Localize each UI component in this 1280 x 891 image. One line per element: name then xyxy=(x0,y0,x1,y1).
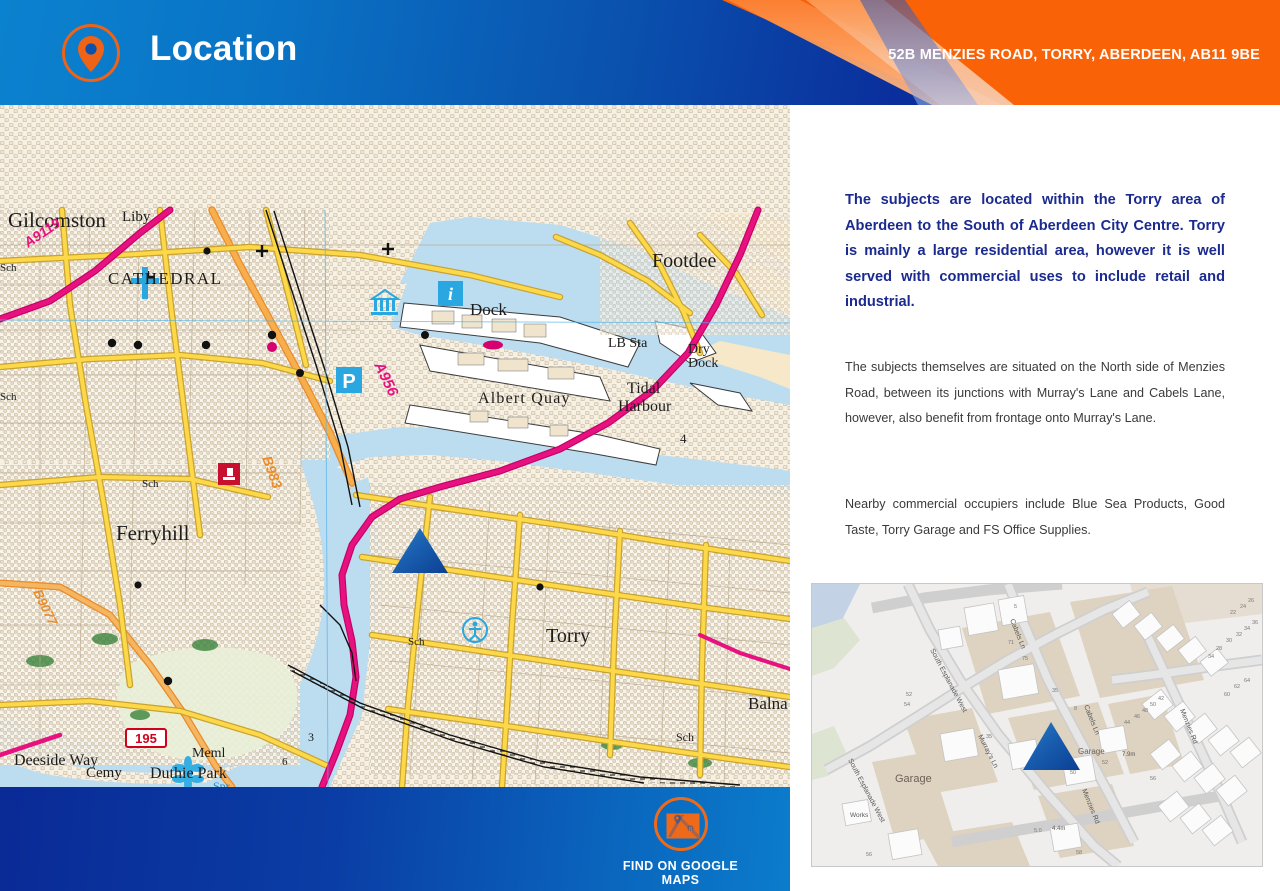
svg-text:Sch: Sch xyxy=(142,478,159,490)
paragraph-lead: The subjects are located within the Torr… xyxy=(845,188,1225,316)
svg-text:54: 54 xyxy=(904,702,910,708)
paragraph-situation: The subjects themselves are situated on … xyxy=(845,355,1225,432)
svg-text:CATHEDRAL: CATHEDRAL xyxy=(108,269,223,288)
google-maps-glyph: 8 xyxy=(666,813,700,839)
svg-text:Cemy: Cemy xyxy=(86,765,122,781)
main-location-map[interactable]: i P xyxy=(0,105,790,787)
pin-glyph xyxy=(76,36,106,72)
svg-text:36: 36 xyxy=(1252,620,1258,626)
svg-text:Liby: Liby xyxy=(122,209,151,225)
cycle-route-shield: 195 xyxy=(126,729,166,747)
svg-text:Dock: Dock xyxy=(688,356,718,371)
property-address: 52B MENZIES ROAD, TORRY, ABERDEEN, AB11 … xyxy=(888,47,1260,63)
svg-text:Sch: Sch xyxy=(0,391,17,403)
svg-text:52: 52 xyxy=(906,692,912,698)
map-label-garage-1: Garage xyxy=(895,773,932,785)
svg-text:42: 42 xyxy=(1158,696,1164,702)
svg-text:34: 34 xyxy=(1244,626,1250,632)
svg-text:Balna: Balna xyxy=(748,694,788,713)
svg-text:8: 8 xyxy=(688,827,692,834)
spot-height-79: 7.9m xyxy=(1122,752,1135,758)
svg-text:48: 48 xyxy=(1142,708,1148,714)
svg-text:32: 32 xyxy=(1236,632,1242,638)
svg-text:60: 60 xyxy=(1224,692,1230,698)
find-on-google-maps-label: FIND ON GOOGLE MAPS xyxy=(608,859,753,887)
svg-text:5: 5 xyxy=(1014,604,1017,610)
svg-text:4: 4 xyxy=(680,431,687,446)
svg-text:Ferryhill: Ferryhill xyxy=(116,521,190,545)
svg-text:30: 30 xyxy=(1226,638,1232,644)
map-label-garage-2: Garage xyxy=(1078,747,1105,756)
svg-text:64: 64 xyxy=(1244,678,1250,684)
svg-text:Spr: Spr xyxy=(213,779,230,787)
map-label-works: Works xyxy=(850,812,869,819)
svg-text:Sch: Sch xyxy=(676,730,694,744)
svg-text:Sch: Sch xyxy=(408,636,425,648)
google-maps-icon: 8 xyxy=(654,797,708,851)
svg-text:26: 26 xyxy=(1248,598,1254,604)
svg-text:46: 46 xyxy=(1134,714,1140,720)
svg-text:62: 62 xyxy=(1234,684,1240,690)
svg-text:Dry: Dry xyxy=(688,342,710,357)
svg-text:Dock: Dock xyxy=(470,300,507,319)
svg-text:Tidal: Tidal xyxy=(627,380,661,397)
svg-text:P: P xyxy=(342,371,355,393)
svg-text:44: 44 xyxy=(1124,720,1130,726)
svg-text:195: 195 xyxy=(135,731,157,746)
svg-text:Sch: Sch xyxy=(0,262,17,274)
page-header: Location 52B MENZIES ROAD, TORRY, ABERDE… xyxy=(0,0,1280,105)
spot-height-44: 4.4m xyxy=(1052,826,1065,832)
svg-text:28: 28 xyxy=(1216,646,1222,652)
svg-text:6: 6 xyxy=(282,756,288,768)
page-title: Location xyxy=(150,31,297,66)
svg-text:i: i xyxy=(448,284,453,304)
svg-text:24: 24 xyxy=(1240,604,1246,610)
svg-text:34: 34 xyxy=(1208,654,1214,660)
svg-text:Footdee: Footdee xyxy=(652,250,717,272)
location-page: Location 52B MENZIES ROAD, TORRY, ABERDE… xyxy=(0,0,1280,891)
svg-text:58: 58 xyxy=(1076,850,1082,856)
svg-text:56: 56 xyxy=(1150,776,1156,782)
inset-site-map[interactable]: South Esplanade West South Esplanade Wes… xyxy=(811,583,1263,867)
svg-text:50: 50 xyxy=(1150,702,1156,708)
svg-text:Harbour: Harbour xyxy=(618,398,672,415)
svg-text:22: 22 xyxy=(1230,610,1236,616)
find-on-google-maps-button[interactable]: 8 FIND ON GOOGLE MAPS xyxy=(608,797,753,885)
svg-text:3: 3 xyxy=(308,730,314,744)
svg-text:56: 56 xyxy=(866,852,872,858)
location-pin-icon xyxy=(62,24,120,82)
svg-text:52: 52 xyxy=(1102,760,1108,766)
map-footer: 8 FIND ON GOOGLE MAPS xyxy=(0,787,790,891)
svg-text:50: 50 xyxy=(1070,770,1076,776)
description-panel: The subjects are located within the Torr… xyxy=(790,105,1280,891)
svg-text:Meml: Meml xyxy=(192,746,226,761)
paragraph-occupiers: Nearby commercial occupiers include Blue… xyxy=(845,492,1225,543)
svg-text:8: 8 xyxy=(1074,706,1077,712)
svg-text:5.0: 5.0 xyxy=(1034,828,1042,834)
svg-text:LB Sta: LB Sta xyxy=(608,336,648,351)
svg-text:35: 35 xyxy=(1052,688,1058,694)
svg-text:35: 35 xyxy=(986,734,992,740)
svg-text:Torry: Torry xyxy=(546,625,590,647)
svg-text:75: 75 xyxy=(1022,656,1028,662)
svg-text:71: 71 xyxy=(1008,640,1014,646)
svg-text:Albert Quay: Albert Quay xyxy=(478,390,571,407)
